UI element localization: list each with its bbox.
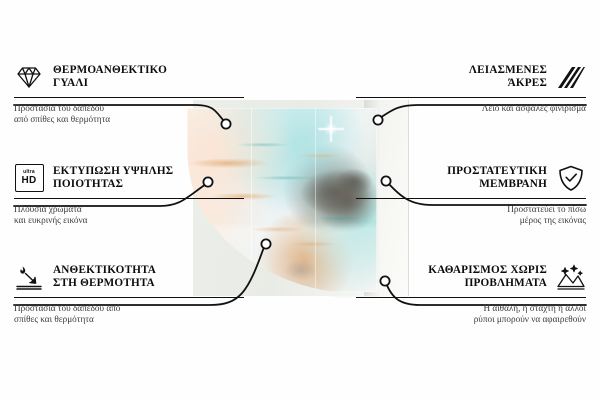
feature-divider — [356, 198, 586, 199]
feature-heat-resistant-glass: ΘΕΡΜΟΑΝΘΕΚΤΙΚΟ ΓΥΑΛΙ Προστασία του δαπέδ… — [14, 62, 244, 126]
feature-header: ΚΑΘΑΡΙΣΜΟΣ ΧΩΡΙΣ ΠΡΟΒΛΗΜΑΤΑ — [356, 262, 586, 292]
feature-divider — [356, 297, 586, 298]
feature-title: ΚΑΘΑΡΙΣΜΟΣ ΧΩΡΙΣ ΠΡΟΒΛΗΜΑΤΑ — [428, 264, 547, 290]
feature-title: ΕΚΤΥΠΩΣΗ ΥΨΗΛΗΣ ΠΟΙΟΤΗΤΑΣ — [53, 165, 173, 191]
feature-polished-edges: ΛΕΙΑΣΜΕΝΕΣ ΆΚΡΕΣ Λείο και ασφαλές φινίρι… — [356, 62, 586, 114]
ultra-hd-box: ultra HD — [15, 164, 44, 192]
feature-divider — [14, 97, 244, 98]
diamond-icon — [14, 62, 44, 92]
feature-protective-membrane: ΠΡΟΣΤΑΤΕΥΤΙΚΗ ΜΕΜΒΡΑΝΗ Προστατεύει το πί… — [356, 163, 586, 227]
feature-title: ΑΝΘΕΚΤΙΚΟΤΗΤΑ ΣΤΗ ΘΕΡΜΟΤΗΤΑ — [53, 264, 156, 290]
shield-check-icon — [556, 163, 586, 193]
feature-header: ΠΡΟΣΤΑΤΕΥΤΙΚΗ ΜΕΜΒΡΑΝΗ — [356, 163, 586, 193]
feature-subtitle: Προστατεύει το πίσω μέρος της εικόνας — [356, 204, 586, 227]
feature-header: ΑΝΘΕΚΤΙΚΟΤΗΤΑ ΣΤΗ ΘΕΡΜΟΤΗΤΑ — [14, 262, 244, 292]
feature-title: ΠΡΟΣΤΑΤΕΥΤΙΚΗ ΜΕΜΒΡΑΝΗ — [447, 165, 547, 191]
feature-header: ultra HD ΕΚΤΥΠΩΣΗ ΥΨΗΛΗΣ ΠΟΙΟΤΗΤΑΣ — [14, 163, 244, 193]
feature-subtitle: Πλούσια χρώματα και ευκρινής εικόνα — [14, 204, 244, 227]
feature-divider — [14, 198, 244, 199]
ultra-hd-icon: ultra HD — [14, 163, 44, 193]
feature-subtitle: Προστασία του δαπέδου από σπίθες και θερ… — [14, 103, 244, 126]
feature-divider — [14, 297, 244, 298]
flame-deflect-icon — [14, 262, 44, 292]
feature-header: ΘΕΡΜΟΑΝΘΕΚΤΙΚΟ ΓΥΑΛΙ — [14, 62, 244, 92]
feature-header: ΛΕΙΑΣΜΕΝΕΣ ΆΚΡΕΣ — [356, 62, 586, 92]
bevel-lines-icon — [556, 62, 586, 92]
ultra-hd-main-label: HD — [21, 176, 36, 186]
feature-heat-durability: ΑΝΘΕΚΤΙΚΟΤΗΤΑ ΣΤΗ ΘΕΡΜΟΤΗΤΑ Προστασία το… — [14, 262, 244, 326]
feature-subtitle: Η αιθάλη, η στάχτη ή άλλοι ρύποι μπορούν… — [356, 303, 586, 326]
feature-high-quality-print: ultra HD ΕΚΤΥΠΩΣΗ ΥΨΗΛΗΣ ΠΟΙΟΤΗΤΑΣ Πλούσ… — [14, 163, 244, 227]
feature-easy-cleaning: ΚΑΘΑΡΙΣΜΟΣ ΧΩΡΙΣ ΠΡΟΒΛΗΜΑΤΑ Η αιθάλη, η … — [356, 262, 586, 326]
infographic-canvas: ΘΕΡΜΟΑΝΘΕΚΤΙΚΟ ΓΥΑΛΙ Προστασία του δαπέδ… — [0, 0, 600, 400]
wipe-sparkle-icon — [556, 262, 586, 292]
feature-divider — [356, 97, 586, 98]
feature-subtitle: Προστασία του δαπέδου από σπίθες και θερ… — [14, 303, 244, 326]
feature-title: ΘΕΡΜΟΑΝΘΕΚΤΙΚΟ ΓΥΑΛΙ — [53, 64, 167, 90]
feature-subtitle: Λείο και ασφαλές φινίρισμα — [356, 103, 586, 114]
feature-title: ΛΕΙΑΣΜΕΝΕΣ ΆΚΡΕΣ — [469, 64, 547, 90]
